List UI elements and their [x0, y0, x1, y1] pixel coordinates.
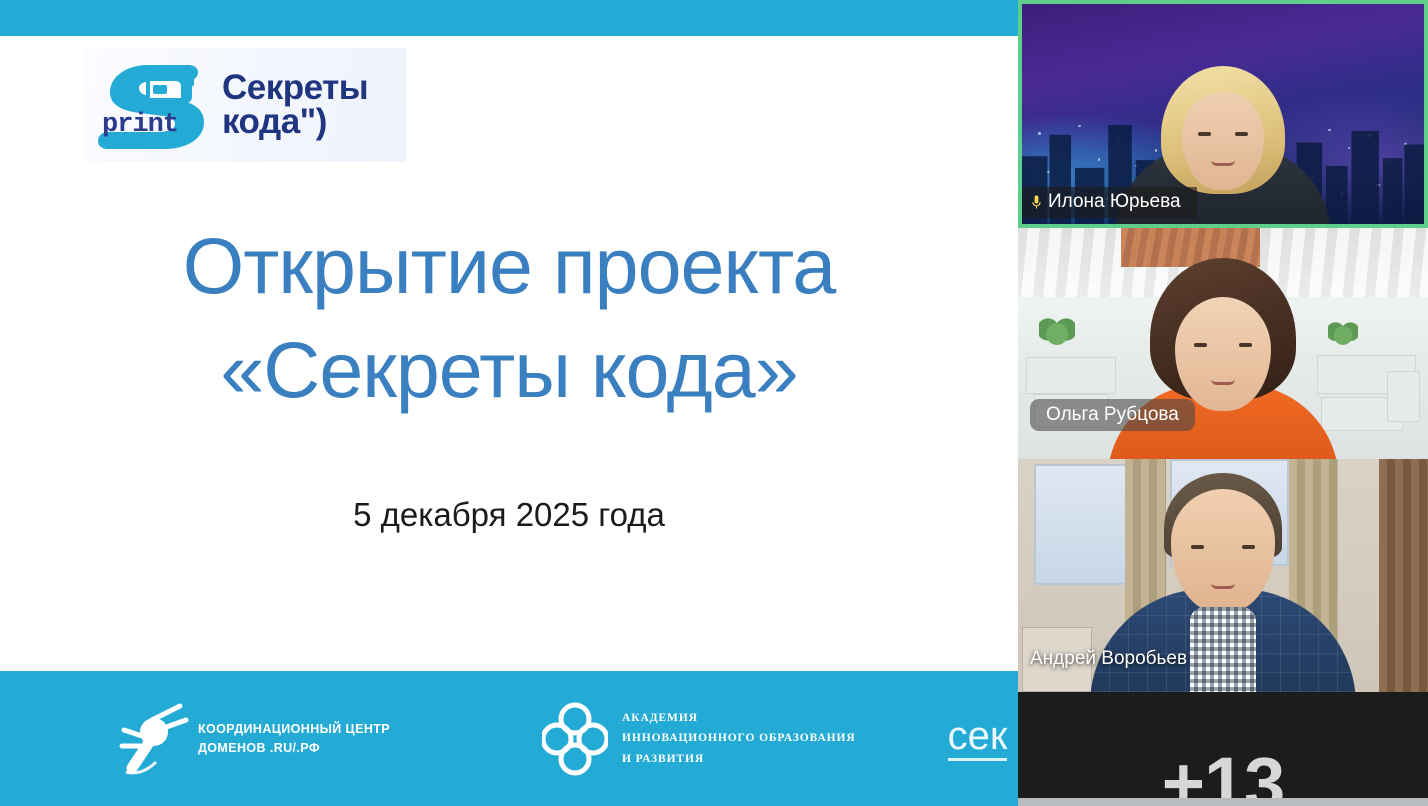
- participant-face: [1171, 489, 1275, 613]
- slide-footer-logos: Координационный центр доменов .RU/.РФ: [0, 671, 1018, 806]
- academy-line1: Академия: [622, 708, 856, 728]
- academy-line3: и развития: [622, 749, 856, 769]
- academy-logo: Академия инновационного образования и ра…: [542, 700, 856, 778]
- video-conference-screen: print Секреты кода") Открытие проекта «С…: [0, 0, 1428, 806]
- slide-top-band: [0, 0, 1018, 36]
- participant-name: Ольга Рубцова: [1046, 404, 1179, 425]
- participant-video-column: Илона Юрьева: [1018, 0, 1428, 806]
- slide-title-line1: Открытие проекта: [0, 214, 1018, 318]
- coordination-center-logo: Координационный центр доменов .RU/.РФ: [118, 700, 390, 778]
- participant-name: Андрей Воробьев: [1030, 648, 1187, 669]
- participant-tile[interactable]: Андрей Воробьев: [1018, 459, 1428, 692]
- sprint-s-logo-icon: print: [92, 59, 220, 151]
- participant-name-label: Илона Юрьева: [1022, 187, 1197, 218]
- logo-print-word: print: [102, 112, 178, 139]
- logo-word-line2: кода"): [222, 105, 368, 139]
- slide-title: Открытие проекта «Секреты кода»: [0, 214, 1018, 423]
- participant-tile[interactable]: Ольга Рубцова: [1018, 228, 1428, 459]
- sprint-secrets-of-code-logo: print Секреты кода"): [84, 48, 406, 162]
- sputnik-satellite-icon: [118, 700, 192, 778]
- overflow-participants-tile[interactable]: +13: [1018, 692, 1428, 806]
- participant-name-label: Андрей Воробьев: [1030, 648, 1187, 670]
- secrets-of-code-footer-logo: сек: [948, 716, 1008, 761]
- participant-name-label: Ольга Рубцова: [1030, 399, 1195, 431]
- academy-text: Академия инновационного образования и ра…: [622, 708, 856, 768]
- kc-line2: доменов .RU/.РФ: [198, 739, 390, 758]
- participant-face: [1182, 92, 1264, 190]
- participant-tile-active[interactable]: Илона Юрьева: [1018, 0, 1428, 228]
- bottom-strip: [1018, 798, 1428, 806]
- coordination-center-text: Координационный центр доменов .RU/.РФ: [198, 720, 390, 758]
- slide-date: 5 декабря 2025 года: [0, 496, 1018, 534]
- academy-line2: инновационного образования: [622, 728, 856, 748]
- slide-title-line2: «Секреты кода»: [0, 318, 1018, 422]
- participant-shirt: [1190, 607, 1256, 692]
- participant-name: Илона Юрьева: [1048, 191, 1181, 213]
- participant-face: [1175, 297, 1271, 411]
- logo-wordmark: Секреты кода"): [222, 71, 368, 138]
- microphone-icon: [1032, 195, 1041, 210]
- shared-slide[interactable]: print Секреты кода") Открытие проекта «С…: [0, 0, 1018, 806]
- kc-line1: Координационный центр: [198, 720, 390, 739]
- four-circle-clover-icon: [542, 700, 608, 778]
